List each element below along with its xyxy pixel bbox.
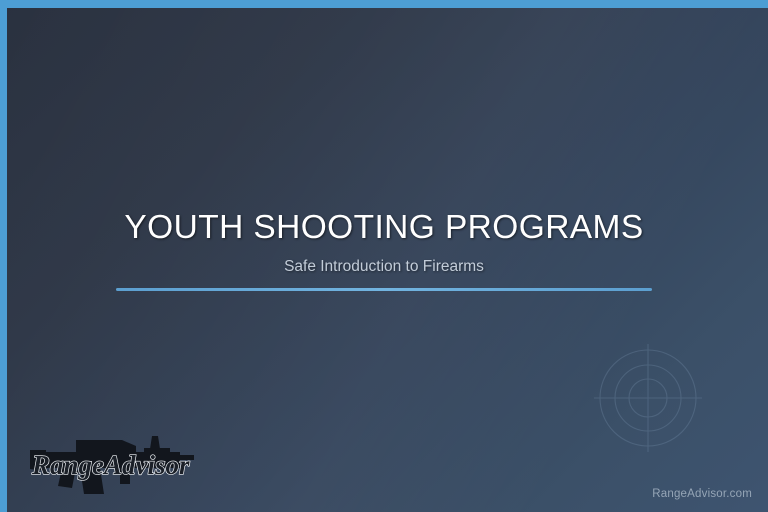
title-block: YOUTH SHOOTING PROGRAMS Safe Introductio…: [0, 208, 768, 276]
footer-url: RangeAdvisor.com: [652, 488, 752, 500]
title-divider: [116, 288, 652, 291]
crosshair-target-icon: [592, 342, 704, 454]
page-subtitle: Safe Introduction to Firearms: [0, 258, 768, 277]
title-slide: YOUTH SHOOTING PROGRAMS Safe Introductio…: [0, 0, 768, 512]
logo-wordmark: RangeAdvisor: [31, 450, 190, 480]
accent-border-top: [0, 0, 768, 8]
page-title: YOUTH SHOOTING PROGRAMS: [0, 208, 768, 249]
logo: RangeAdvisor: [24, 424, 196, 498]
